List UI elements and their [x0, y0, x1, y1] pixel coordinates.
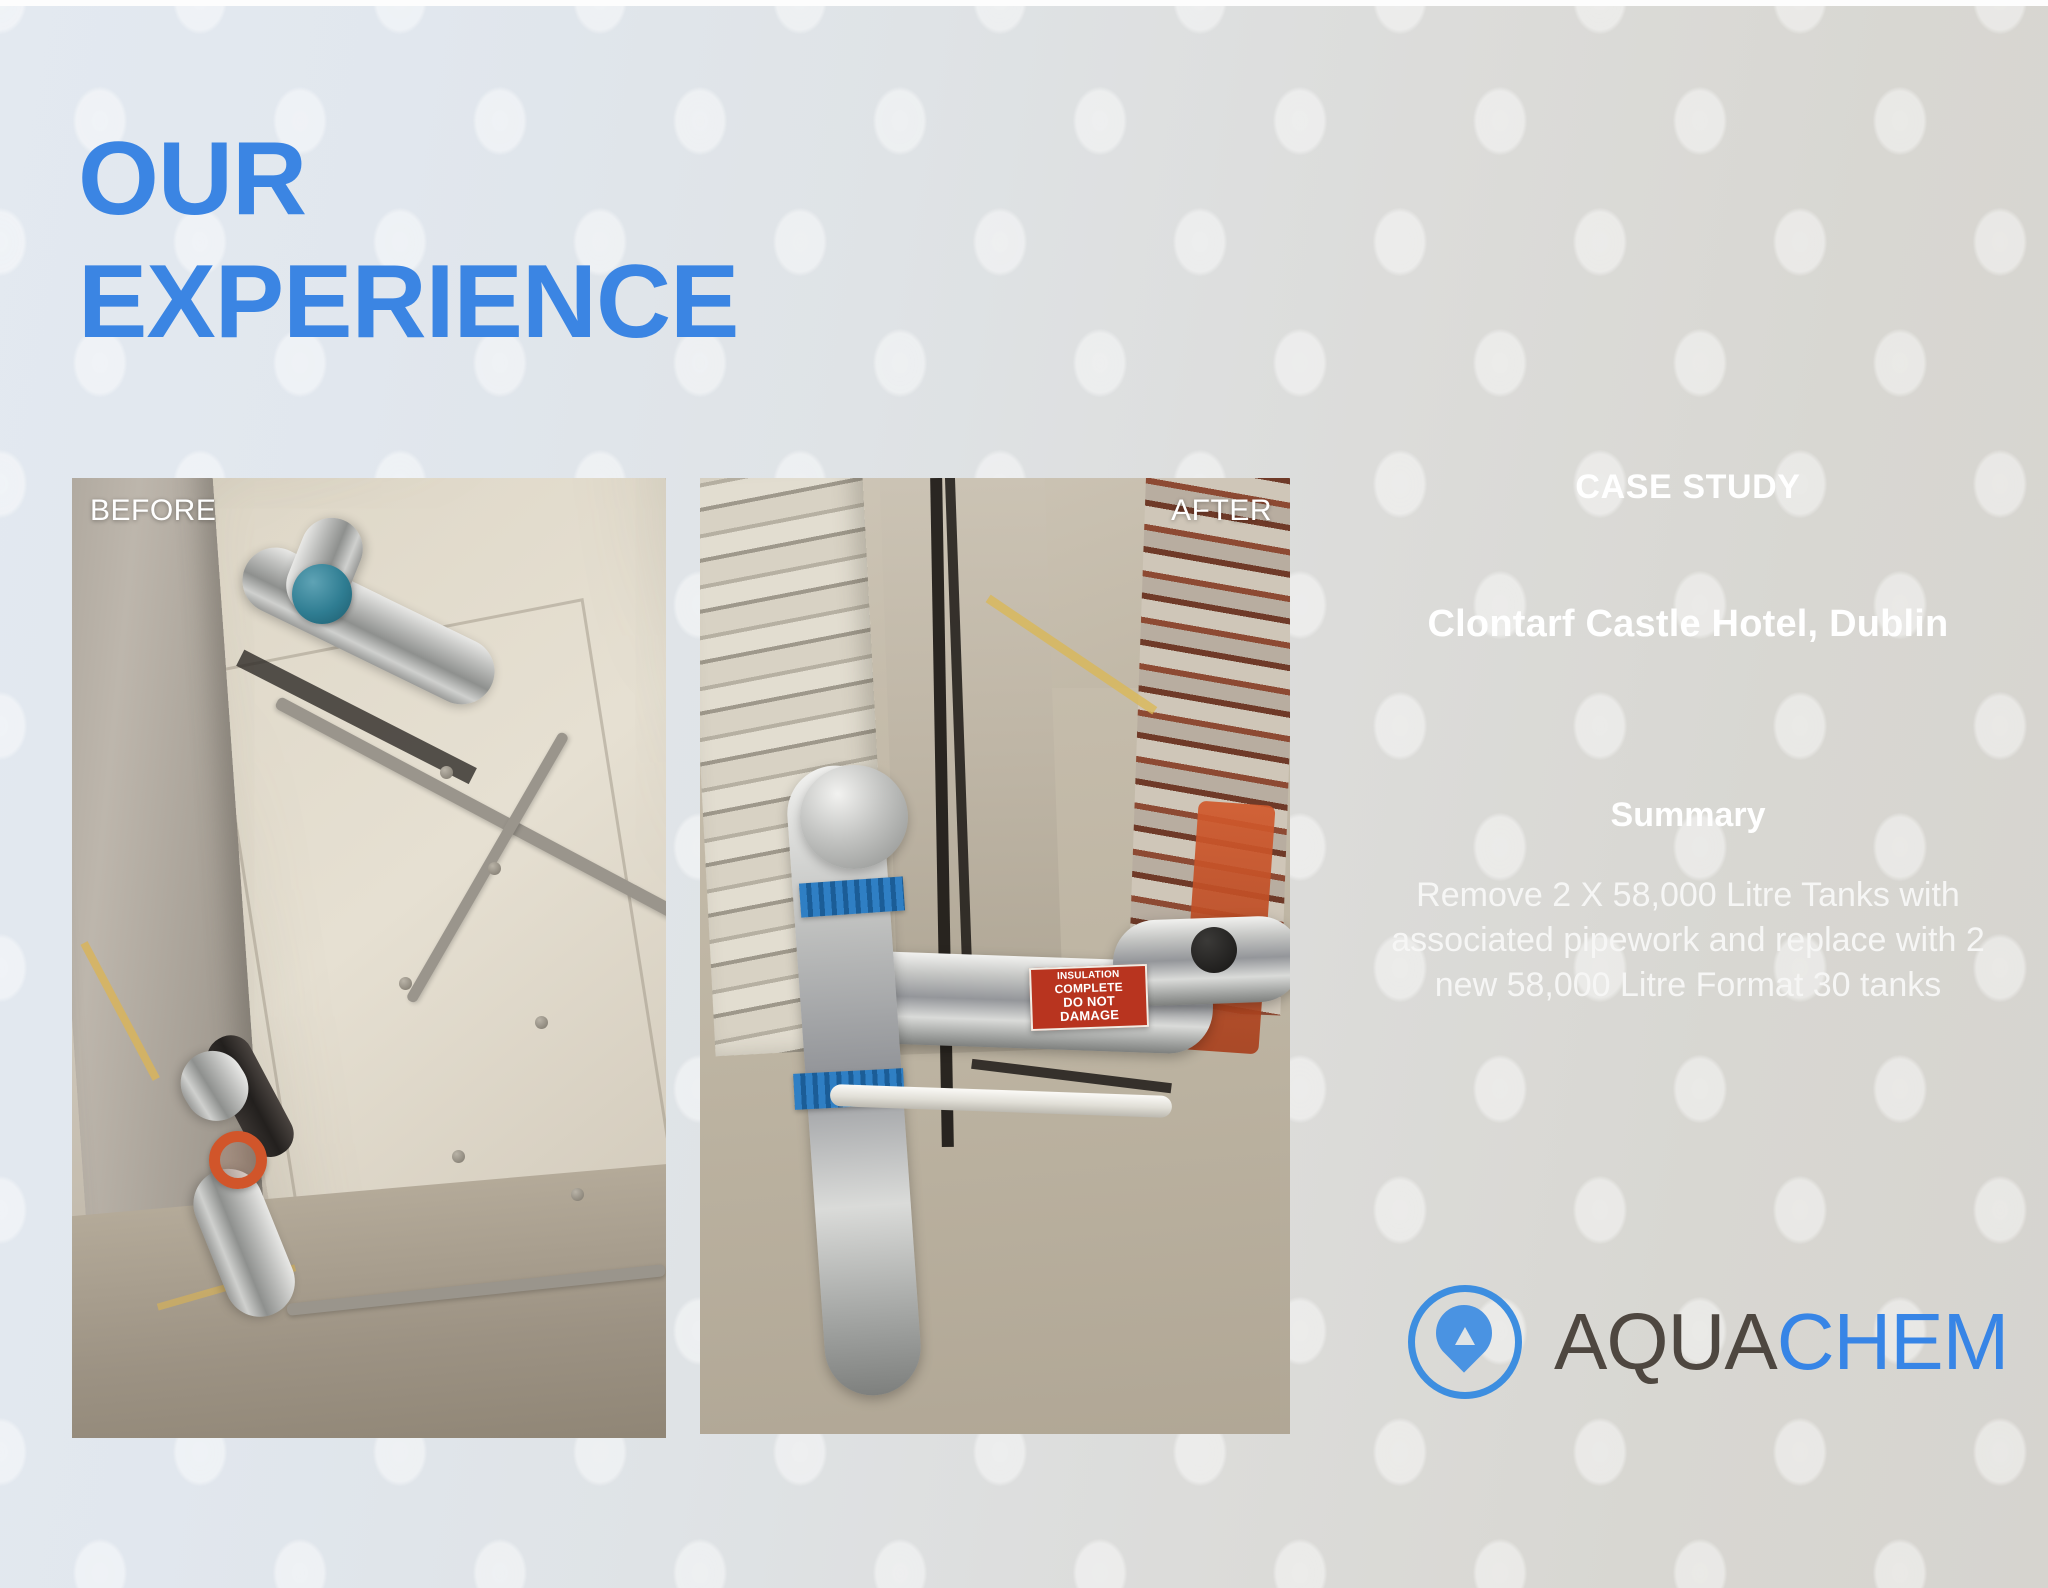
- before-photo: BEFORE: [72, 478, 666, 1438]
- logo-droplet-highlight: [1455, 1327, 1475, 1345]
- aquachem-logo: AQUACHEM: [1404, 1272, 2004, 1412]
- after-blue-band-1: [799, 876, 905, 917]
- after-photo: INSULATION COMPLETE DO NOT DAMAGE AFTER: [700, 478, 1290, 1434]
- after-black-valve: [1191, 927, 1237, 973]
- warning-sign-line-4: DAMAGE: [1035, 1006, 1145, 1024]
- before-bolt: [488, 862, 501, 875]
- before-photo-caption: BEFORE: [90, 494, 216, 528]
- page-title: OUR EXPERIENCE: [78, 118, 738, 363]
- page-title-line-2: EXPERIENCE: [78, 241, 738, 364]
- logo-wordmark: AQUACHEM: [1554, 1302, 2008, 1382]
- after-photo-scene: INSULATION COMPLETE DO NOT DAMAGE: [700, 478, 1290, 1434]
- logo-word-chem: CHEM: [1777, 1297, 2009, 1386]
- slide-canvas: OUR EXPERIENCE: [0, 0, 2048, 1588]
- before-red-valve-wheel: [209, 1131, 267, 1189]
- before-bolt: [535, 1016, 548, 1029]
- logo-word-aqua: AQUA: [1554, 1297, 1777, 1386]
- case-study-heading: CASE STUDY: [1368, 468, 2008, 507]
- before-photo-scene: [72, 478, 666, 1438]
- before-bolt: [399, 977, 412, 990]
- page-title-line-1: OUR: [78, 118, 738, 241]
- case-study-client-name: Clontarf Castle Hotel, Dublin: [1368, 603, 2008, 646]
- after-photo-caption: AFTER: [1171, 494, 1272, 528]
- summary-body-text: Remove 2 X 58,000 Litre Tanks with assoc…: [1368, 873, 2008, 1008]
- before-valve-flange: [292, 564, 352, 624]
- summary-heading: Summary: [1368, 796, 2008, 835]
- insulation-warning-sign: INSULATION COMPLETE DO NOT DAMAGE: [1029, 964, 1149, 1031]
- after-pipe-elbow: [800, 765, 908, 869]
- case-study-panel: CASE STUDY Clontarf Castle Hotel, Dublin…: [1368, 468, 2008, 1008]
- water-droplet-icon: [1404, 1281, 1526, 1403]
- top-edge-strip: [0, 0, 2048, 6]
